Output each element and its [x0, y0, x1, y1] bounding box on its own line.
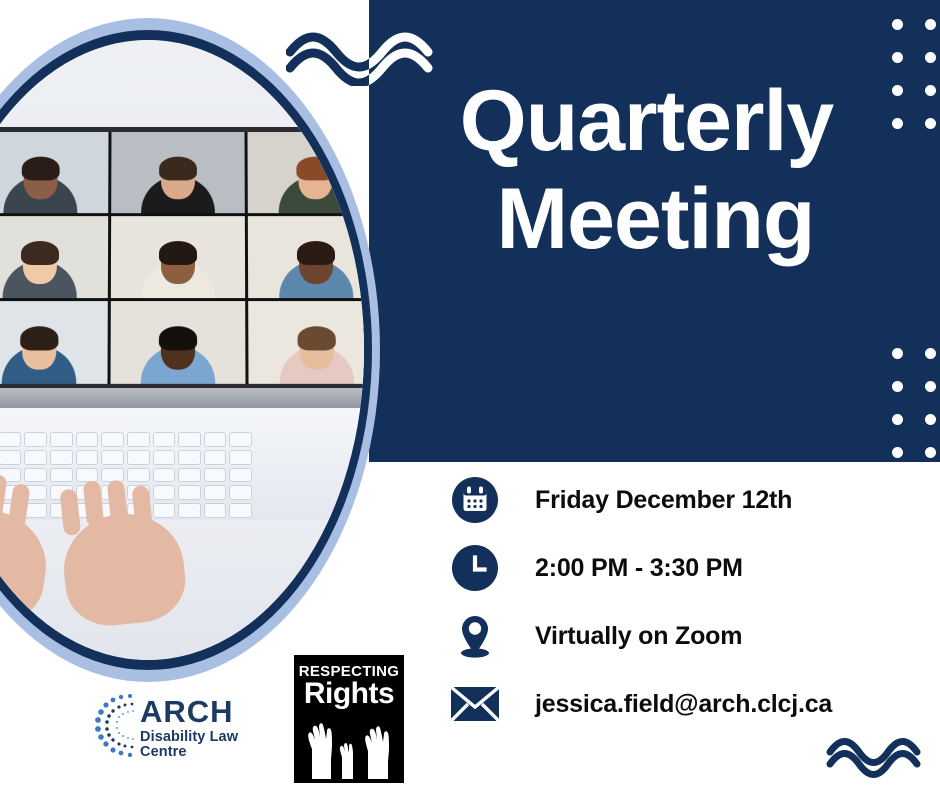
event-details-list: Friday December 12th 2:00 PM - 3:30 PM V… — [445, 466, 925, 738]
arch-logo-subtitle: Disability Law Centre — [140, 730, 278, 759]
keyboard-key — [229, 468, 252, 483]
keyboard-key — [76, 450, 99, 465]
keyboard-key — [153, 450, 176, 465]
video-call-tile — [249, 301, 364, 384]
keyboard-key — [50, 468, 73, 483]
video-call-tile — [111, 132, 245, 213]
detail-text-email: jessica.field@arch.clcj.ca — [535, 690, 832, 719]
keyboard-key — [127, 432, 150, 447]
keyboard-key — [101, 432, 124, 447]
photo-image — [0, 40, 364, 660]
keyboard-key — [178, 450, 201, 465]
dot — [925, 447, 936, 458]
dot — [925, 118, 936, 129]
detail-row-time: 2:00 PM - 3:30 PM — [445, 534, 925, 602]
keyboard-key — [76, 432, 99, 447]
keyboard-key — [204, 432, 227, 447]
video-call-tile — [0, 216, 108, 298]
detail-row-email: jessica.field@arch.clcj.ca — [445, 670, 925, 738]
video-call-tile — [0, 132, 108, 213]
video-call-tile — [248, 132, 364, 213]
dot — [925, 19, 936, 30]
keyboard-key — [24, 450, 47, 465]
dot — [925, 85, 936, 96]
video-call-tile — [110, 301, 246, 384]
dot — [892, 381, 903, 392]
title-line-2: Meeting — [369, 170, 924, 268]
keyboard-key — [153, 485, 176, 500]
keyboard-key — [229, 450, 252, 465]
detail-text-date: Friday December 12th — [535, 486, 792, 515]
keyboard-key — [229, 432, 252, 447]
keyboard-key — [127, 468, 150, 483]
keyboard-key — [0, 432, 21, 447]
keyboard-key — [76, 468, 99, 483]
video-call-grid — [0, 132, 364, 384]
keyboard-key — [229, 485, 252, 500]
dot — [892, 348, 903, 359]
dot — [892, 19, 903, 30]
envelope-icon — [445, 685, 505, 723]
arch-spiral-dots-icon — [88, 688, 148, 764]
arch-logo: ARCH Disability Law Centre — [88, 688, 278, 764]
keyboard-key — [50, 432, 73, 447]
dot — [925, 414, 936, 425]
detail-row-location: Virtually on Zoom — [445, 602, 925, 670]
respecting-rights-main-word: Rights — [294, 679, 404, 709]
detail-text-location: Virtually on Zoom — [535, 622, 742, 651]
keyboard-key — [178, 468, 201, 483]
keyboard-key — [204, 450, 227, 465]
keyboard-key — [178, 485, 201, 500]
location-pin-icon — [445, 612, 505, 660]
dot — [892, 447, 903, 458]
keyboard-key — [24, 432, 47, 447]
arch-logo-name: ARCH — [140, 696, 278, 727]
poster-title: Quarterly Meeting — [369, 72, 924, 268]
video-call-tile — [110, 216, 245, 298]
keyboard-key — [153, 432, 176, 447]
keyboard-key — [229, 503, 252, 518]
video-call-tile — [248, 216, 364, 298]
keyboard-key — [204, 485, 227, 500]
keyboard-key — [0, 450, 21, 465]
poster-canvas: Quarterly Meeting Friday December 12th — [0, 0, 940, 788]
dot-grid-icon — [881, 337, 940, 469]
keyboard-key — [204, 503, 227, 518]
keyboard-key — [24, 503, 47, 518]
keyboard-key — [24, 468, 47, 483]
keyboard-key — [101, 450, 124, 465]
dot — [892, 52, 903, 63]
laptop-screen — [0, 127, 364, 389]
keyboard-key — [204, 468, 227, 483]
title-line-1: Quarterly — [369, 72, 924, 170]
dot — [925, 348, 936, 359]
video-call-tile — [0, 301, 107, 384]
wave-lines-icon — [826, 736, 936, 782]
keyboard-key — [50, 450, 73, 465]
dot — [925, 52, 936, 63]
keyboard-key — [153, 503, 176, 518]
dot — [892, 414, 903, 425]
detail-row-date: Friday December 12th — [445, 466, 925, 534]
keyboard-key — [178, 432, 201, 447]
calendar-icon — [445, 477, 505, 523]
raised-hands-icon — [298, 713, 400, 779]
dot — [925, 381, 936, 392]
respecting-rights-logo: RESPECTING Rights — [294, 655, 404, 783]
clock-icon — [445, 545, 505, 591]
detail-text-time: 2:00 PM - 3:30 PM — [535, 554, 743, 583]
keyboard-key — [127, 450, 150, 465]
keyboard-key — [178, 503, 201, 518]
video-call-laptop-photo — [0, 18, 380, 682]
keyboard-key — [153, 468, 176, 483]
arch-logo-text: ARCH Disability Law Centre — [140, 696, 278, 759]
